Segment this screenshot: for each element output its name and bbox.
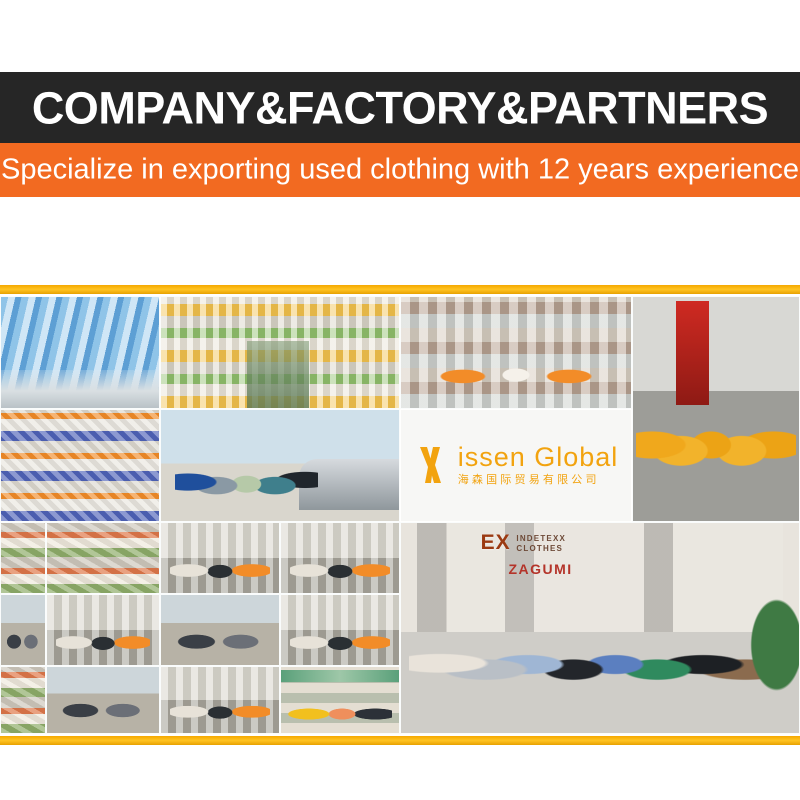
photo-image bbox=[1, 595, 45, 665]
collage-photo-three-partners-bales bbox=[46, 594, 160, 666]
sign-ex-text: EX bbox=[481, 531, 511, 555]
plant-decoration-icon bbox=[743, 586, 799, 704]
collage-photo-market-shoppers-1 bbox=[0, 522, 46, 594]
sign-indetexx-text: INDETEXX CLOTHES bbox=[516, 534, 566, 554]
collage-photo-street-walker bbox=[0, 594, 46, 666]
collage-photo-office-team-photo: EX INDETEXX CLOTHES ZAGUMI bbox=[400, 522, 800, 734]
collage-divider-top bbox=[0, 285, 800, 294]
photo-image bbox=[1, 667, 45, 733]
title-banner: COMPANY&FACTORY&PARTNERS bbox=[0, 72, 800, 143]
collage-photo-factory-roof-aerial bbox=[0, 296, 160, 409]
marketing-banner-page: COMPANY&FACTORY&PARTNERS Specialize in e… bbox=[0, 0, 800, 800]
photo-image bbox=[633, 297, 799, 521]
photo-image: EX INDETEXX CLOTHES ZAGUMI bbox=[401, 523, 799, 733]
photo-image bbox=[161, 595, 279, 665]
photo-image bbox=[47, 595, 159, 665]
collage-photo-bales-wall-three-men bbox=[400, 296, 632, 409]
collage-photo-warehouse-buyers-2 bbox=[280, 522, 400, 594]
collage-photo-couple-documents bbox=[160, 594, 280, 666]
logo-name-cn: 海森国际贸易有限公司 bbox=[458, 473, 600, 487]
collage-grid: issen Global 海森国际贸易有限公司 bbox=[0, 296, 800, 734]
subtitle-banner: Specialize in exporting used clothing wi… bbox=[0, 143, 800, 197]
photo-image bbox=[161, 667, 279, 733]
photo-image bbox=[281, 523, 399, 593]
photo-image bbox=[161, 297, 399, 408]
collage-divider-bottom bbox=[0, 736, 800, 745]
subtitle-text: Specialize in exporting used clothing wi… bbox=[1, 156, 799, 185]
collage-photo-bale-yard-inspection bbox=[160, 666, 280, 734]
photo-image bbox=[281, 667, 399, 733]
photo-image bbox=[161, 410, 399, 521]
photo-image bbox=[401, 297, 631, 408]
collage-photo-partners-bales-orange bbox=[280, 594, 400, 666]
photo-collage: issen Global 海森国际贸易有限公司 bbox=[0, 285, 800, 745]
photo-image bbox=[47, 523, 159, 593]
issen-logo-mark-icon bbox=[414, 445, 448, 485]
collage-photo-two-staff-orange bbox=[0, 666, 46, 734]
collage-photo-market-shoppers-2 bbox=[46, 522, 160, 594]
collage-photo-sorting-floor bbox=[0, 409, 160, 522]
logo-name-en: issen Global bbox=[458, 444, 619, 472]
photo-image bbox=[161, 523, 279, 593]
photo-image bbox=[1, 523, 45, 593]
photo-image bbox=[1, 297, 159, 408]
photo-image bbox=[1, 410, 159, 521]
collage-photo-warehouse-buyers-1 bbox=[160, 522, 280, 594]
team-crowd bbox=[409, 594, 791, 720]
collage-photo-warehouse-bales-hall bbox=[160, 296, 400, 409]
photo-image bbox=[281, 595, 399, 665]
collage-photo-market-street-group bbox=[46, 666, 160, 734]
sign-indetexx-line1: INDETEXX bbox=[516, 534, 566, 543]
collage-photo-yellow-uniform-team bbox=[632, 296, 800, 522]
company-logo-card: issen Global 海森国际贸易有限公司 bbox=[400, 409, 632, 522]
collage-photo-stall-partners bbox=[280, 666, 400, 734]
sign-zagumi-text: ZAGUMI bbox=[508, 561, 572, 577]
photo-image bbox=[47, 667, 159, 733]
sign-indetexx-line2: CLOTHES bbox=[516, 544, 563, 553]
collage-photo-partners-group-car bbox=[160, 409, 400, 522]
page-title: COMPANY&FACTORY&PARTNERS bbox=[32, 85, 768, 130]
